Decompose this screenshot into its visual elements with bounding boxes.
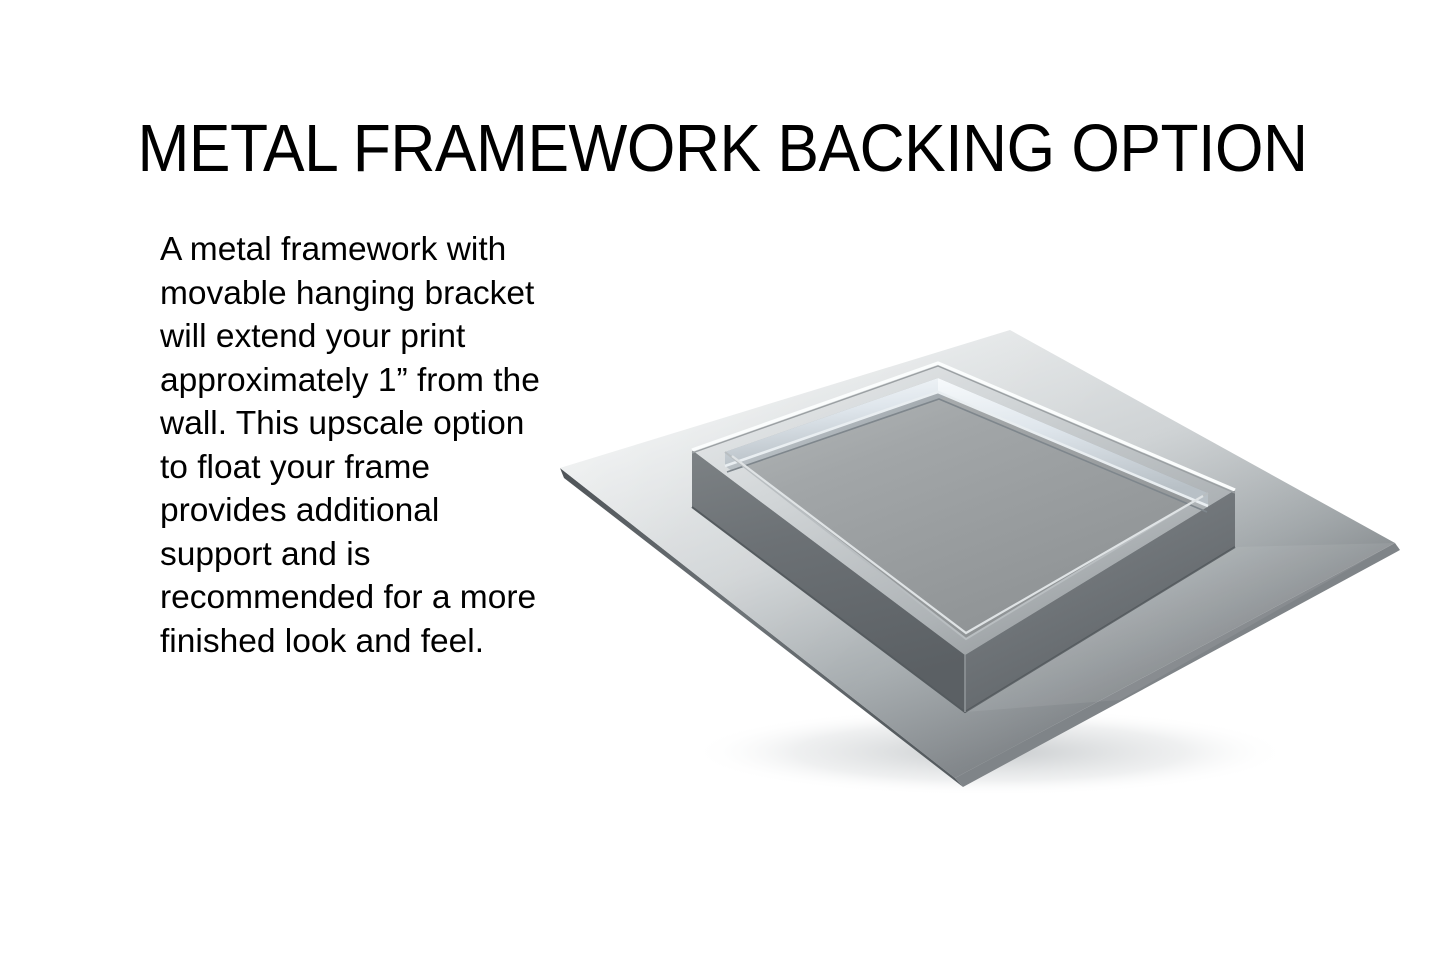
body-paragraph: A metal framework with movable hanging b… [160, 228, 555, 663]
presentation-slide: METAL FRAMEWORK BACKING OPTION A metal f… [0, 0, 1445, 963]
product-image [520, 300, 1420, 830]
page-title: METAL FRAMEWORK BACKING OPTION [51, 115, 1395, 182]
metal-framework-illustration [520, 300, 1420, 830]
